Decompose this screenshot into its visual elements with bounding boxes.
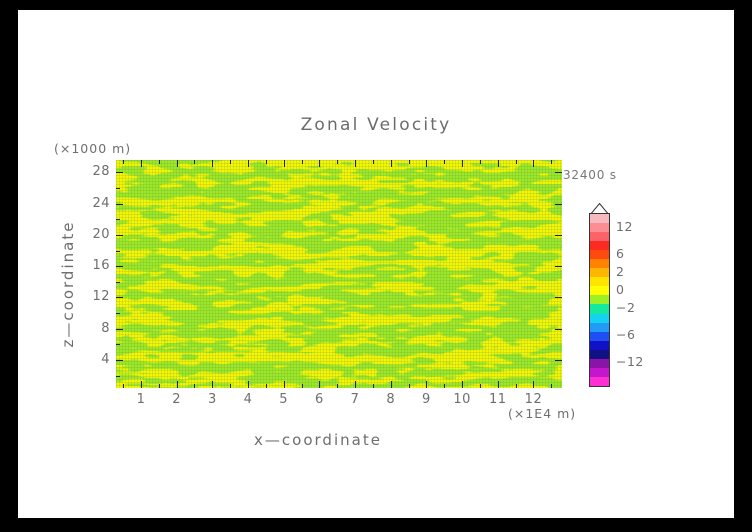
x-axis-tick-label: 2 <box>162 392 192 407</box>
x-axis-tick <box>248 160 249 167</box>
y-axis-tick <box>116 360 123 361</box>
colorbar-tick-label: 6 <box>616 246 624 261</box>
x-axis-tick-label: 1 <box>126 392 156 407</box>
y-axis-tick <box>555 172 562 173</box>
x-axis-tick <box>355 381 356 388</box>
y-axis-tick <box>116 172 123 173</box>
y-axis-minor-tick <box>116 219 120 220</box>
colorbar-band <box>590 232 609 241</box>
x-axis-tick-label: 7 <box>340 392 370 407</box>
x-axis-tick <box>141 160 142 167</box>
x-axis-tick-label: 9 <box>411 392 441 407</box>
x-axis-tick <box>426 381 427 388</box>
x-axis-minor-tick <box>373 160 374 164</box>
x-axis-minor-tick <box>551 160 552 164</box>
y-axis-minor-tick <box>116 313 120 314</box>
y-axis-tick <box>116 204 123 205</box>
colorbar-band <box>590 223 609 232</box>
x-axis-tick <box>533 381 534 388</box>
colorbar-band <box>590 323 609 332</box>
colorbar-band <box>590 214 609 223</box>
y-axis-tick <box>116 329 123 330</box>
x-axis-tick <box>284 381 285 388</box>
colorbar-band <box>590 277 609 286</box>
x-axis-minor-tick <box>159 160 160 164</box>
x-axis-tick <box>141 381 142 388</box>
x-axis-tick <box>426 160 427 167</box>
y-axis-minor-tick <box>116 282 120 283</box>
x-axis-label: x—coordinate <box>18 431 618 449</box>
y-axis-tick <box>555 297 562 298</box>
y-axis-tick <box>116 266 123 267</box>
x-axis-minor-tick <box>159 384 160 388</box>
colorbar-band <box>590 314 609 323</box>
chart-title: Zonal Velocity <box>18 115 734 135</box>
x-axis-minor-tick <box>409 160 410 164</box>
x-axis-minor-tick <box>516 160 517 164</box>
y-axis-tick <box>116 235 123 236</box>
x-axis-tick <box>212 381 213 388</box>
colorbar-band <box>590 250 609 259</box>
x-axis-tick-label: 3 <box>197 392 227 407</box>
heatmap-field <box>116 160 562 388</box>
colorbar-band <box>590 332 609 341</box>
x-axis-minor-tick <box>337 160 338 164</box>
x-axis-minor-tick <box>266 384 267 388</box>
x-axis-minor-tick <box>302 384 303 388</box>
x-axis-tick <box>391 381 392 388</box>
x-axis-tick <box>391 160 392 167</box>
colorbar-band <box>590 377 609 386</box>
x-axis-minor-tick <box>302 160 303 164</box>
x-axis-tick <box>533 160 534 167</box>
x-axis-tick-label: 5 <box>269 392 299 407</box>
x-axis-tick <box>319 160 320 167</box>
x-axis-minor-tick <box>409 384 410 388</box>
x-axis-minor-tick <box>516 384 517 388</box>
colorbar-tick-label: −2 <box>616 300 635 315</box>
x-axis-tick <box>498 381 499 388</box>
y-axis-tick-label: 28 <box>70 164 110 179</box>
x-axis-tick-label: 10 <box>447 392 477 407</box>
y-axis-tick <box>555 329 562 330</box>
colorbar-band <box>590 286 609 295</box>
colorbar-tick-label: 12 <box>616 219 633 234</box>
y-axis-unit: (×1000 m) <box>54 141 131 156</box>
x-axis-unit: (×1E4 m) <box>508 406 576 421</box>
outer-frame: Zonal Velocity (×1000 m) (×1E4 m) 32400 … <box>0 0 752 532</box>
colorbar-band <box>590 259 609 268</box>
colorbar-band <box>590 341 609 350</box>
colorbar-band <box>590 304 609 313</box>
colorbar-tick-label: −6 <box>616 327 635 342</box>
y-axis-minor-tick <box>116 251 120 252</box>
colorbar-tick-label: 0 <box>616 282 624 297</box>
colorbar-band <box>590 295 609 304</box>
y-axis-tick <box>555 204 562 205</box>
x-axis-tick-label: 12 <box>518 392 548 407</box>
x-axis-minor-tick <box>230 160 231 164</box>
x-axis-minor-tick <box>373 384 374 388</box>
x-axis-minor-tick <box>194 160 195 164</box>
y-axis-tick-label: 16 <box>70 258 110 273</box>
colorbar <box>589 213 610 387</box>
x-axis-minor-tick <box>123 160 124 164</box>
y-axis-minor-tick <box>116 188 120 189</box>
x-axis-tick <box>284 160 285 167</box>
x-axis-tick-label: 8 <box>376 392 406 407</box>
x-axis-tick-label: 11 <box>483 392 513 407</box>
timestamp-label: 32400 s <box>563 168 617 182</box>
y-axis-tick <box>116 297 123 298</box>
x-axis-minor-tick <box>230 384 231 388</box>
x-axis-minor-tick <box>337 384 338 388</box>
x-axis-minor-tick <box>480 384 481 388</box>
x-axis-tick <box>498 160 499 167</box>
x-axis-minor-tick <box>480 160 481 164</box>
y-axis-tick-label: 4 <box>70 352 110 367</box>
x-axis-minor-tick <box>123 384 124 388</box>
x-axis-minor-tick <box>266 160 267 164</box>
y-axis-minor-tick <box>116 344 120 345</box>
colorbar-tick-label: 2 <box>616 264 624 279</box>
y-axis-tick <box>555 235 562 236</box>
plot-canvas: Zonal Velocity (×1000 m) (×1E4 m) 32400 … <box>18 10 734 518</box>
x-axis-tick <box>177 381 178 388</box>
colorbar-band <box>590 350 609 359</box>
y-axis-minor-tick <box>116 376 120 377</box>
y-axis-tick <box>555 360 562 361</box>
x-axis-tick <box>212 160 213 167</box>
y-axis-tick <box>555 266 562 267</box>
y-axis-tick-label: 12 <box>70 289 110 304</box>
y-axis-tick-label: 20 <box>70 227 110 242</box>
x-axis-minor-tick <box>194 384 195 388</box>
y-axis-tick-label: 8 <box>70 321 110 336</box>
colorbar-tick-label: −12 <box>616 354 644 369</box>
x-axis-tick-label: 6 <box>304 392 334 407</box>
x-axis-tick-label: 4 <box>233 392 263 407</box>
colorbar-band <box>590 268 609 277</box>
x-axis-tick <box>177 160 178 167</box>
x-axis-minor-tick <box>551 384 552 388</box>
x-axis-tick <box>355 160 356 167</box>
colorbar-band <box>590 368 609 377</box>
x-axis-tick <box>248 381 249 388</box>
x-axis-minor-tick <box>444 384 445 388</box>
x-axis-tick <box>462 160 463 167</box>
colorbar-band <box>590 359 609 368</box>
colorbar-band <box>590 241 609 250</box>
y-axis-tick-label: 24 <box>70 196 110 211</box>
x-axis-minor-tick <box>444 160 445 164</box>
x-axis-tick <box>319 381 320 388</box>
x-axis-tick <box>462 381 463 388</box>
